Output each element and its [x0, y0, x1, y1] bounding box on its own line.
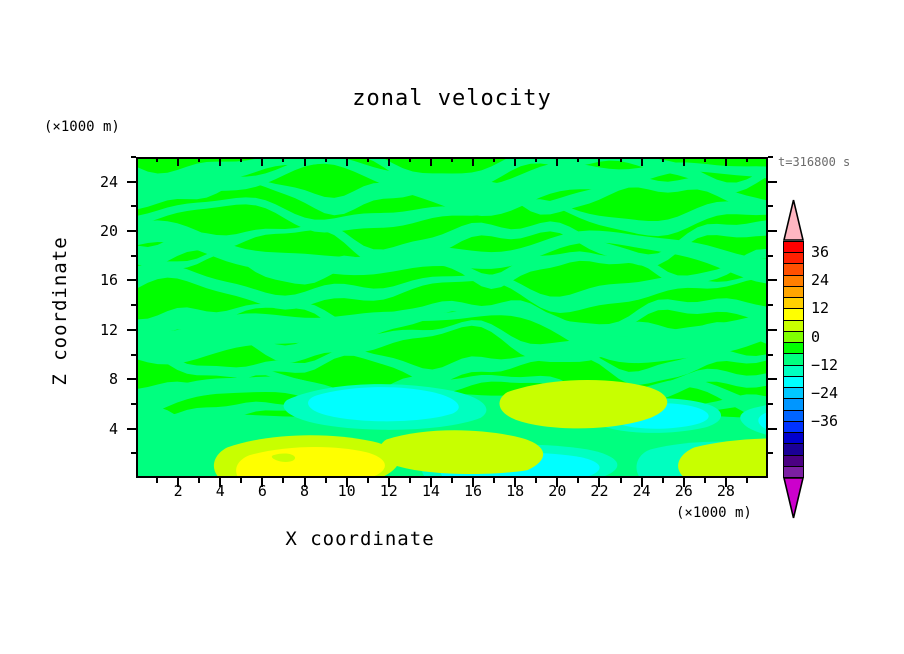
x-tick-label: 8 — [285, 482, 325, 500]
x-major-tick-top — [514, 157, 516, 166]
y-axis-unit-label: (×1000 m) — [44, 119, 120, 135]
y-minor-tick — [131, 403, 136, 405]
x-tick-label: 24 — [622, 482, 662, 500]
x-axis-title: X coordinate — [0, 528, 720, 550]
x-tick-label: 22 — [579, 482, 619, 500]
x-minor-tick — [240, 478, 242, 483]
x-minor-tick — [198, 478, 200, 483]
x-major-tick-top — [683, 157, 685, 166]
y-minor-tick — [131, 354, 136, 356]
x-major-tick-top — [472, 157, 474, 166]
colorbar-top-arrow-icon — [783, 199, 804, 241]
y-major-tick — [127, 279, 136, 281]
y-minor-tick — [131, 452, 136, 454]
y-tick-label: 8 — [78, 370, 118, 388]
x-minor-tick-top — [240, 157, 242, 162]
x-minor-tick-top — [282, 157, 284, 162]
y-tick-label: 4 — [78, 420, 118, 438]
x-minor-tick-top — [535, 157, 537, 162]
x-minor-tick-top — [325, 157, 327, 162]
colorbar[interactable]: 3624120−12−24−36 — [781, 199, 807, 519]
contour-field — [138, 159, 766, 476]
y-minor-tick-right — [768, 403, 773, 405]
x-axis-unit-label: (×1000 m) — [676, 505, 752, 521]
y-minor-tick — [131, 255, 136, 257]
y-major-tick-right — [768, 181, 777, 183]
y-minor-tick-right — [768, 156, 773, 158]
y-tick-label: 24 — [78, 173, 118, 191]
y-minor-tick — [131, 205, 136, 207]
y-major-tick — [127, 428, 136, 430]
y-major-tick-right — [768, 428, 777, 430]
colorbar-tick-label: 24 — [811, 271, 829, 289]
x-tick-label: 2 — [158, 482, 198, 500]
x-major-tick-top — [556, 157, 558, 166]
y-tick-label: 20 — [78, 222, 118, 240]
x-major-tick-top — [388, 157, 390, 166]
y-minor-tick-right — [768, 452, 773, 454]
x-minor-tick-top — [156, 157, 158, 162]
x-major-tick-top — [219, 157, 221, 166]
y-tick-label: 12 — [78, 321, 118, 339]
x-minor-tick-top — [451, 157, 453, 162]
y-minor-tick-right — [768, 304, 773, 306]
x-minor-tick — [577, 478, 579, 483]
x-minor-tick — [746, 478, 748, 483]
x-minor-tick — [409, 478, 411, 483]
x-minor-tick-top — [746, 157, 748, 162]
x-minor-tick-top — [493, 157, 495, 162]
x-major-tick-top — [346, 157, 348, 166]
x-minor-tick — [493, 478, 495, 483]
y-major-tick — [127, 181, 136, 183]
colorbar-tick-label: 0 — [811, 328, 820, 346]
colorbar-tick-label: −12 — [811, 356, 838, 374]
x-tick-label: 12 — [369, 482, 409, 500]
x-major-tick-top — [598, 157, 600, 166]
colorbar-tick-label: 12 — [811, 299, 829, 317]
y-minor-tick-right — [768, 255, 773, 257]
y-major-tick-right — [768, 279, 777, 281]
x-minor-tick — [451, 478, 453, 483]
x-tick-label: 4 — [200, 482, 240, 500]
colorbar-tick-label: −24 — [811, 384, 838, 402]
x-tick-label: 28 — [706, 482, 746, 500]
chart-title: zonal velocity — [0, 86, 904, 111]
contour-plot-area — [136, 157, 768, 478]
x-minor-tick-top — [409, 157, 411, 162]
x-minor-tick-top — [577, 157, 579, 162]
x-minor-tick-top — [704, 157, 706, 162]
x-minor-tick — [535, 478, 537, 483]
colorbar-tick-label: 36 — [811, 243, 829, 261]
x-minor-tick — [282, 478, 284, 483]
x-minor-tick-top — [198, 157, 200, 162]
x-tick-label: 18 — [495, 482, 535, 500]
x-minor-tick — [325, 478, 327, 483]
x-major-tick-top — [304, 157, 306, 166]
x-minor-tick-top — [662, 157, 664, 162]
x-minor-tick-top — [367, 157, 369, 162]
y-major-tick — [127, 378, 136, 380]
x-minor-tick — [367, 478, 369, 483]
y-tick-label: 16 — [78, 271, 118, 289]
x-minor-tick — [704, 478, 706, 483]
y-major-tick — [127, 230, 136, 232]
y-major-tick-right — [768, 230, 777, 232]
x-tick-label: 10 — [327, 482, 367, 500]
x-minor-tick — [620, 478, 622, 483]
x-major-tick-top — [430, 157, 432, 166]
y-major-tick — [127, 329, 136, 331]
x-tick-label: 14 — [411, 482, 451, 500]
x-major-tick-top — [641, 157, 643, 166]
x-tick-label: 26 — [664, 482, 704, 500]
y-minor-tick — [131, 304, 136, 306]
x-minor-tick — [662, 478, 664, 483]
y-major-tick-right — [768, 378, 777, 380]
y-minor-tick-right — [768, 205, 773, 207]
x-tick-label: 16 — [453, 482, 493, 500]
x-tick-label: 20 — [537, 482, 577, 500]
y-minor-tick-right — [768, 354, 773, 356]
x-major-tick-top — [725, 157, 727, 166]
y-major-tick-right — [768, 329, 777, 331]
x-tick-label: 6 — [242, 482, 282, 500]
x-minor-tick — [156, 478, 158, 483]
timestamp-label: t=316800 s — [778, 155, 850, 169]
x-major-tick-top — [177, 157, 179, 166]
x-minor-tick-top — [620, 157, 622, 162]
y-axis-title: Z coordinate — [49, 191, 71, 431]
x-major-tick-top — [261, 157, 263, 166]
colorbar-tick-label: −36 — [811, 412, 838, 430]
y-minor-tick — [131, 156, 136, 158]
colorbar-bottom-arrow-icon — [783, 477, 804, 519]
